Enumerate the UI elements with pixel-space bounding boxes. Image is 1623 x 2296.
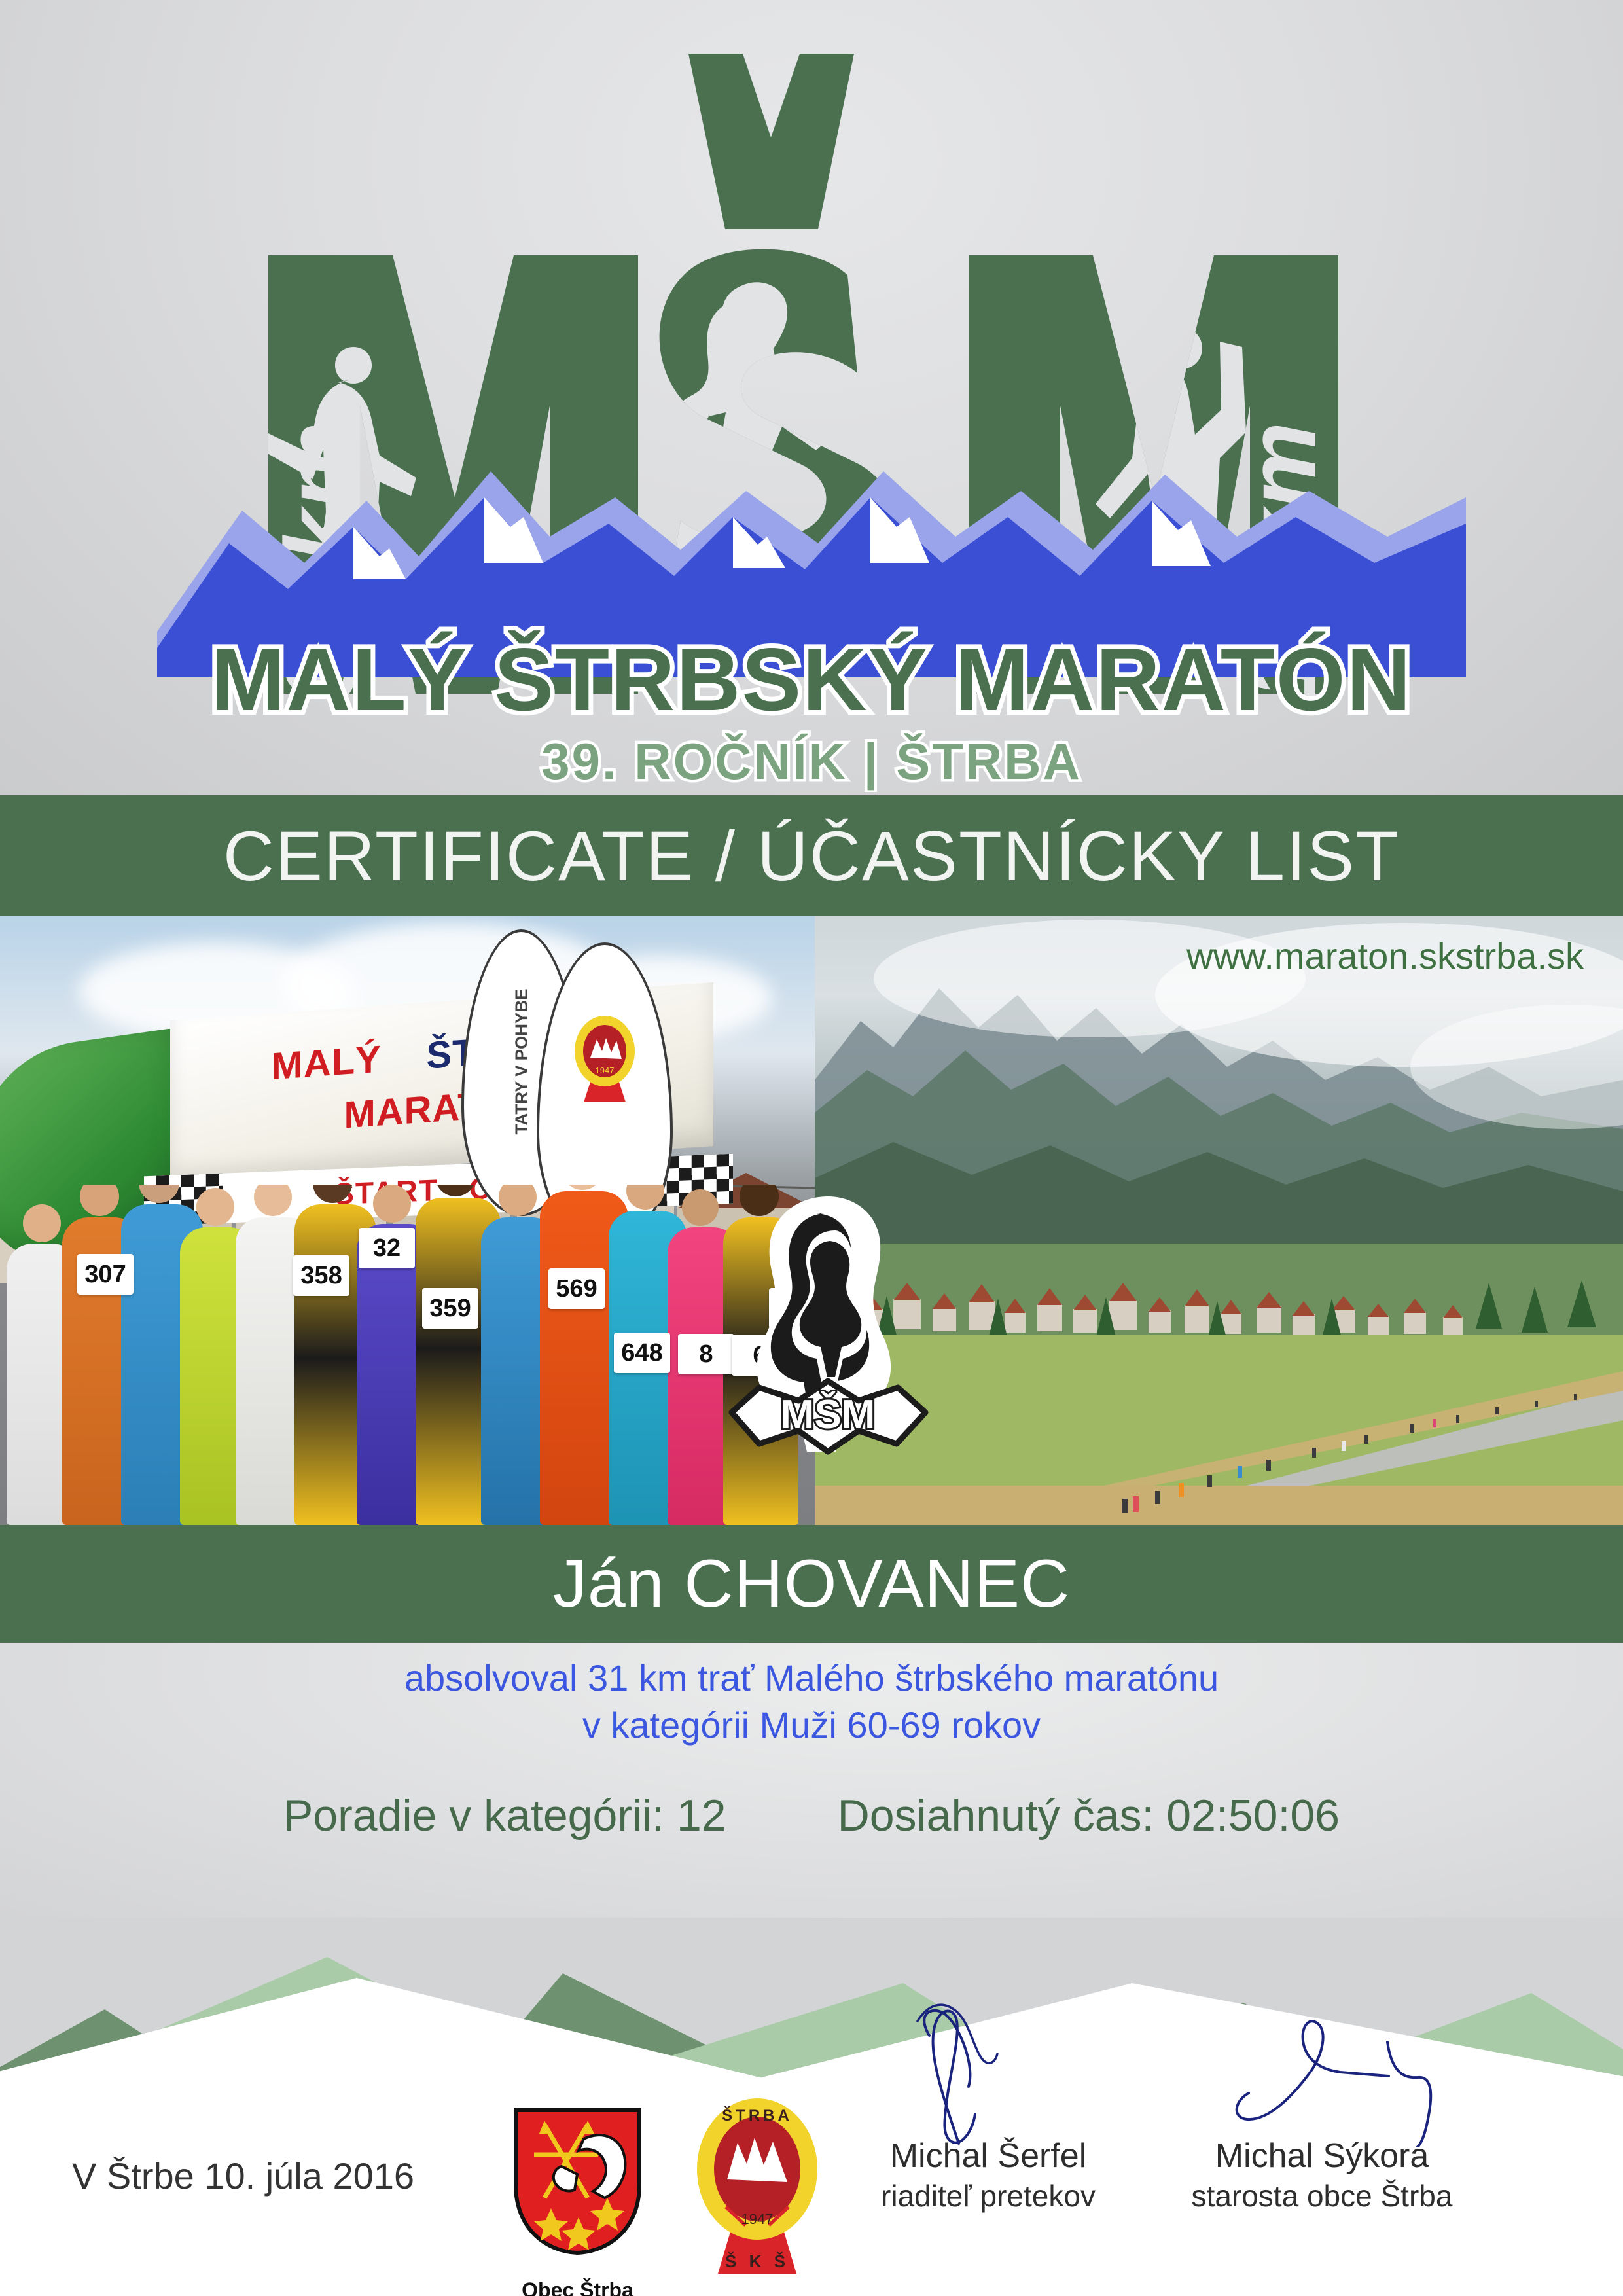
msm-logo: 31 km 10 km MALÝ ŠTRBSKÝ MARATÓN 39. ROČ… — [157, 39, 1466, 792]
signature-mark-director — [844, 1996, 1132, 2147]
msm-badge-ribbon: MŠM — [732, 1381, 925, 1452]
signature-role-mayor: starosta obce Štrba — [1171, 2178, 1472, 2214]
crest-sks-year: 1947 — [741, 2211, 774, 2227]
runner-bib: 359 — [422, 1288, 478, 1329]
certificate-date: V Štrbe 10. júla 2016 — [72, 2155, 414, 2197]
runner-crowd: 307 358 32 359 569 648 8 6 360 — [0, 1185, 815, 1525]
signature-role-director: riaditeľ pretekov — [844, 2178, 1132, 2214]
signature-block-mayor: Michal Sýkora starosta obce Štrba — [1171, 1996, 1472, 2214]
category-rank: Poradie v kategórii: 12 — [283, 1790, 726, 1841]
signature-name-director: Michal Šerfel — [844, 2136, 1132, 2176]
athlete-name: Ján CHOVANEC — [553, 1545, 1070, 1623]
signature-mark-mayor — [1171, 1996, 1472, 2147]
crest-sks-strba: 1947 ŠTRBA Š K Š — [690, 2096, 825, 2279]
msm-badge-text: MŠM — [781, 1392, 876, 1437]
result-description: absolvoval 31 km trať Malého štrbského m… — [0, 1655, 1623, 1748]
header-logo-area: 31 km 10 km MALÝ ŠTRBSKÝ MARATÓN 39. ROČ… — [0, 0, 1623, 795]
finish-time: Dosiahnutý čas: 02:50:06 — [838, 1790, 1340, 1841]
footer-content: V Štrbe 10. júla 2016 — [0, 2081, 1623, 2296]
runner-bib: 358 — [293, 1255, 349, 1296]
runner-bib: 307 — [77, 1254, 134, 1295]
svg-text:1947: 1947 — [596, 1066, 615, 1075]
crest-obec-label: Obec Štrba — [510, 2278, 645, 2296]
flag-tatry-label: TATRY V POHYBE — [511, 988, 531, 1134]
photo-tatra-panorama: www.maraton.skstrba.sk — [815, 916, 1623, 1525]
result-stats: Poradie v kategórii: 12 Dosiahnutý čas: … — [0, 1790, 1623, 1841]
certificate-page: 31 km 10 km MALÝ ŠTRBSKÝ MARATÓN 39. ROČ… — [0, 0, 1623, 2296]
crest-obec-strba: Obec Štrba — [510, 2106, 645, 2276]
result-description-line2: v kategórii Muži 60-69 rokov — [0, 1702, 1623, 1749]
website-url: www.maraton.skstrba.sk — [1186, 935, 1584, 977]
result-description-line1: absolvoval 31 km trať Malého štrbského m… — [0, 1655, 1623, 1702]
athlete-name-band: Ján CHOVANEC — [0, 1525, 1623, 1643]
signature-name-mayor: Michal Sýkora — [1171, 2136, 1472, 2176]
crest-sks-top: ŠTRBA — [722, 2106, 793, 2125]
certificate-title: CERTIFICATE / ÚČASTNÍCKY LIST — [223, 821, 1400, 891]
runner-bib: 32 — [359, 1228, 415, 1268]
signature-block-director: Michal Šerfel riaditeľ pretekov — [844, 1996, 1132, 2214]
result-area: absolvoval 31 km trať Malého štrbského m… — [0, 1643, 1623, 1918]
logo-edition: 39. ROČNÍK | ŠTRBA — [541, 732, 1082, 790]
runner-bib: 569 — [548, 1268, 605, 1309]
sks-logo-mini: 1947 — [565, 1011, 644, 1109]
footer: V Štrbe 10. júla 2016 — [0, 1918, 1623, 2296]
certificate-title-bar: CERTIFICATE / ÚČASTNÍCKY LIST — [0, 795, 1623, 916]
road-with-runners — [815, 1335, 1623, 1525]
crest-sks-bottom: Š K Š — [725, 2251, 789, 2271]
msm-cutout-badge: MŠM — [720, 1185, 936, 1466]
logo-event-name: MALÝ ŠTRBSKÝ MARATÓN — [211, 630, 1412, 729]
runner-bib: 648 — [614, 1333, 670, 1373]
logo-caron — [688, 54, 854, 229]
photo-start-line: MALÝ ŠTRBSKÝ MARATÓN ŠTART - CIEĽ TATRY … — [0, 916, 815, 1525]
